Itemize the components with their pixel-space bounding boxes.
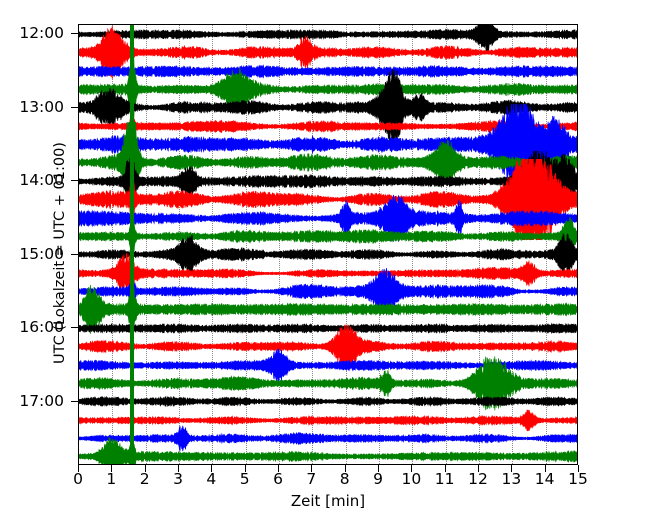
marker-line bbox=[130, 25, 134, 464]
x-tick-label-15: 15 bbox=[568, 470, 588, 488]
x-tick-mark bbox=[245, 465, 246, 472]
x-tick-mark bbox=[211, 465, 212, 472]
x-tick-mark bbox=[445, 465, 446, 472]
y-tick-label-1700: 17:00 bbox=[19, 392, 64, 410]
y-tick-mark bbox=[71, 180, 79, 181]
x-axis-label: Zeit [min] bbox=[78, 492, 578, 510]
x-tick-mark bbox=[311, 465, 312, 472]
x-tick-mark bbox=[378, 465, 379, 472]
x-tick-label-13: 13 bbox=[501, 470, 521, 488]
x-tick-mark bbox=[345, 465, 346, 472]
seismogram-figure: UTC (Lokalzeit = UTC + 01:00) 12:0013:00… bbox=[0, 0, 650, 520]
y-tick-label-1600: 16:00 bbox=[19, 318, 64, 336]
y-tick-mark bbox=[71, 254, 79, 255]
plot-area bbox=[78, 24, 578, 465]
x-tick-label-7: 7 bbox=[306, 470, 316, 488]
y-tick-label-1300: 13:00 bbox=[19, 98, 64, 116]
y-tick-mark bbox=[71, 401, 79, 402]
x-tick-label-8: 8 bbox=[340, 470, 350, 488]
y-tick-label-1500: 15:00 bbox=[19, 245, 64, 263]
x-tick-label-1: 1 bbox=[106, 470, 116, 488]
y-tick-label-1400: 14:00 bbox=[19, 171, 64, 189]
x-tick-mark bbox=[511, 465, 512, 472]
x-tick-mark bbox=[78, 465, 79, 472]
x-tick-mark bbox=[178, 465, 179, 472]
x-tick-label-4: 4 bbox=[206, 470, 216, 488]
x-tick-label-12: 12 bbox=[468, 470, 488, 488]
x-tick-label-5: 5 bbox=[240, 470, 250, 488]
x-tick-label-14: 14 bbox=[535, 470, 555, 488]
marker-line-layer bbox=[79, 25, 577, 464]
x-tick-mark bbox=[111, 465, 112, 472]
y-tick-label-1200: 12:00 bbox=[19, 24, 64, 42]
x-tick-mark bbox=[545, 465, 546, 472]
x-tick-mark bbox=[145, 465, 146, 472]
x-tick-label-10: 10 bbox=[401, 470, 421, 488]
y-tick-mark bbox=[71, 327, 79, 328]
x-tick-mark bbox=[478, 465, 479, 472]
y-tick-mark bbox=[71, 33, 79, 34]
y-tick-mark bbox=[71, 107, 79, 108]
x-tick-label-9: 9 bbox=[373, 470, 383, 488]
x-tick-mark bbox=[578, 465, 579, 472]
x-tick-label-2: 2 bbox=[140, 470, 150, 488]
x-tick-label-6: 6 bbox=[273, 470, 283, 488]
x-tick-label-3: 3 bbox=[173, 470, 183, 488]
x-tick-label-0: 0 bbox=[73, 470, 83, 488]
x-tick-mark bbox=[411, 465, 412, 472]
x-tick-mark bbox=[278, 465, 279, 472]
x-tick-label-11: 11 bbox=[435, 470, 455, 488]
